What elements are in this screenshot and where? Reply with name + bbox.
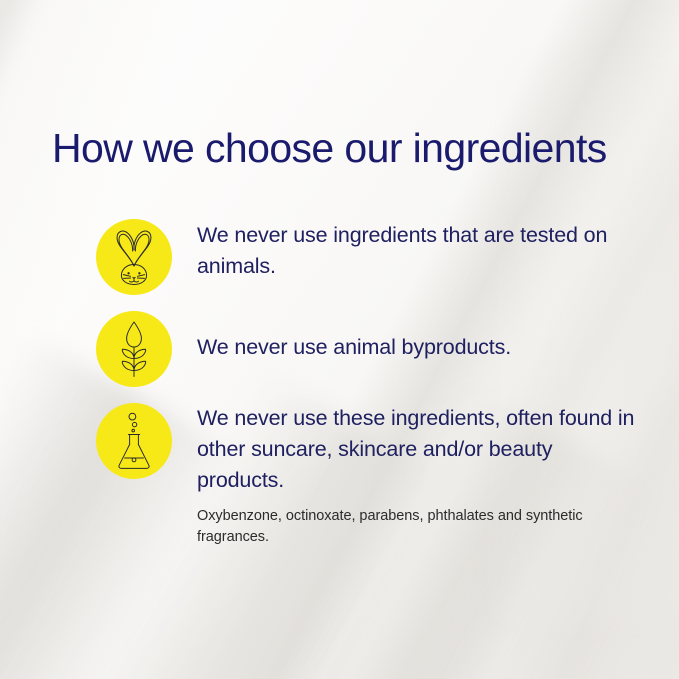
plant-sprout-droplet-icon (112, 320, 156, 378)
page-title: How we choose our ingredients (52, 121, 607, 175)
claim-subtext: Oxybenzone, octinoxate, parabens, phthal… (197, 506, 636, 548)
claim-icon-badge (96, 311, 172, 387)
list-item: We never use these ingredients, often fo… (96, 403, 636, 548)
bunny-heart-ears-icon (111, 228, 157, 286)
claim-icon-badge (96, 219, 172, 295)
erlenmeyer-flask-icon (112, 412, 156, 470)
list-item: We never use ingredients that are tested… (96, 219, 636, 295)
claim-text: We never use these ingredients, often fo… (197, 403, 636, 496)
claim-body: We never use animal byproducts. (172, 311, 636, 363)
claim-text: We never use ingredients that are tested… (197, 220, 636, 282)
infographic-canvas: How we choose our ingredients (0, 0, 679, 679)
claim-icon-badge (96, 403, 172, 479)
claims-list: We never use ingredients that are tested… (96, 219, 636, 548)
claim-body: We never use ingredients that are tested… (172, 219, 636, 282)
claim-body: We never use these ingredients, often fo… (172, 403, 636, 548)
content-area: How we choose our ingredients (0, 0, 679, 679)
list-item: We never use animal byproducts. (96, 311, 636, 387)
claim-text: We never use animal byproducts. (197, 332, 636, 363)
